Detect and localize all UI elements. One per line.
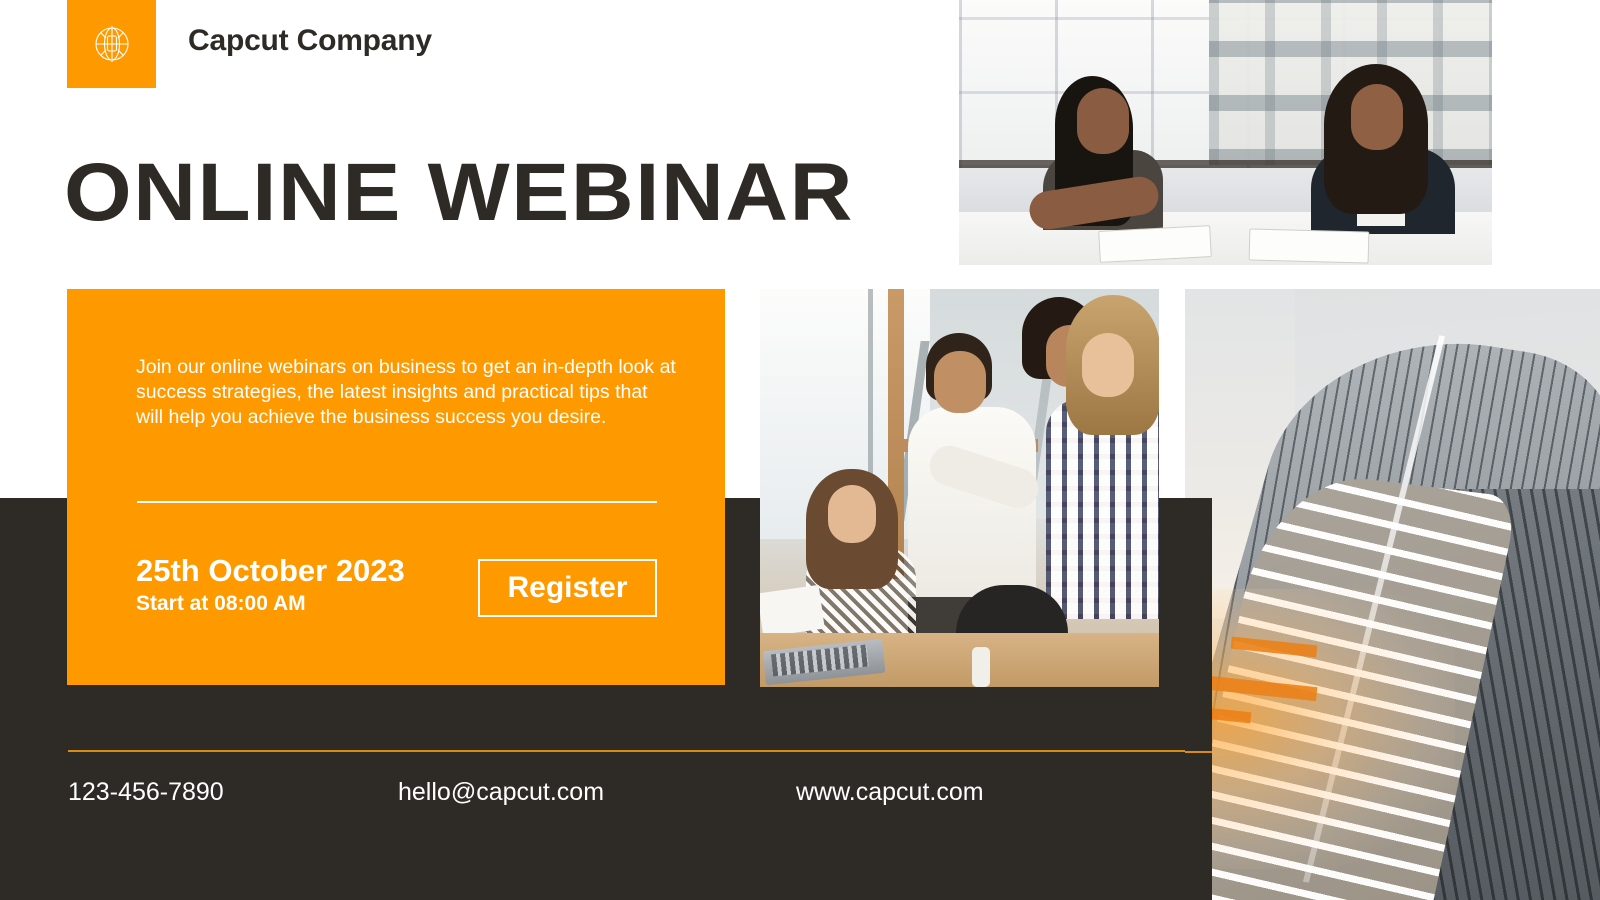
man-one-face bbox=[934, 351, 986, 413]
logo-tile bbox=[67, 0, 156, 88]
meeting-photo bbox=[959, 0, 1492, 265]
sunlight-glow bbox=[1185, 589, 1455, 869]
tower-photo bbox=[1185, 289, 1600, 900]
person-one-face bbox=[1077, 88, 1129, 154]
water-bottle bbox=[972, 647, 990, 687]
card-divider bbox=[137, 501, 657, 503]
footer-divider bbox=[68, 750, 1185, 752]
company-name: Capcut Company bbox=[188, 24, 432, 58]
notebook-right bbox=[1249, 228, 1370, 263]
event-time: Start at 08:00 AM bbox=[136, 592, 306, 616]
register-button[interactable]: Register bbox=[478, 559, 657, 617]
page-title: ONLINE WEBINAR bbox=[64, 145, 854, 241]
globe-icon bbox=[89, 21, 135, 67]
details-card: Join our online webinars on business to … bbox=[67, 289, 725, 685]
paper-sheet bbox=[760, 585, 825, 637]
contact-email[interactable]: hello@capcut.com bbox=[398, 778, 604, 807]
notebook-left bbox=[1098, 225, 1212, 263]
contact-website[interactable]: www.capcut.com bbox=[796, 778, 984, 807]
laptop-keyboard bbox=[771, 644, 869, 676]
event-date: 25th October 2023 bbox=[136, 553, 405, 589]
webinar-poster: Capcut Company ONLINE WEBINAR Join our o… bbox=[0, 0, 1600, 900]
card-description: Join our online webinars on business to … bbox=[136, 355, 676, 430]
footer-divider-extension bbox=[1185, 751, 1212, 753]
dark-panel-overlap bbox=[1185, 498, 1212, 900]
person-two-face bbox=[1351, 84, 1403, 150]
contact-phone[interactable]: 123-456-7890 bbox=[68, 778, 224, 807]
team-photo bbox=[760, 289, 1159, 687]
woman-one-face bbox=[828, 485, 876, 543]
woman-two-face bbox=[1082, 333, 1134, 397]
